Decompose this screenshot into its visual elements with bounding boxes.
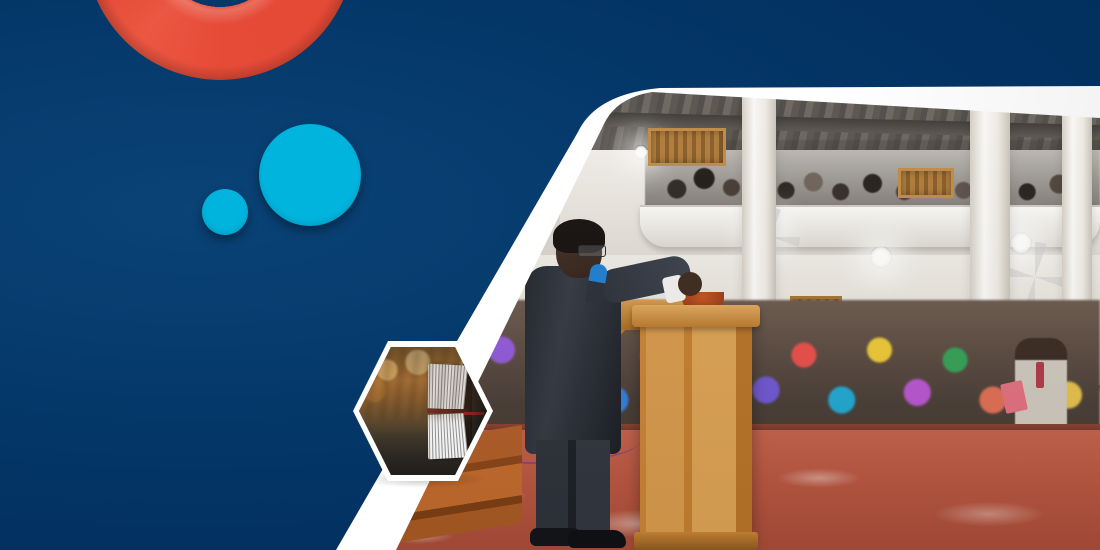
bible-spine bbox=[427, 409, 468, 413]
ceiling-lamp-icon bbox=[870, 246, 892, 268]
hexagon-image-clip bbox=[359, 347, 487, 475]
preacher-legs bbox=[536, 440, 610, 538]
louvred-window bbox=[648, 128, 726, 166]
wooden-pulpit bbox=[640, 318, 752, 550]
pulpit-top bbox=[632, 305, 760, 327]
preacher-hand bbox=[678, 272, 702, 296]
preacher-shoe bbox=[568, 530, 626, 548]
bible-left-page bbox=[428, 413, 469, 459]
pulpit-base bbox=[634, 532, 758, 550]
usher-tie bbox=[1036, 362, 1044, 388]
cyan-circle-large bbox=[259, 124, 361, 226]
bible-photo bbox=[359, 347, 487, 475]
open-bible bbox=[359, 347, 487, 475]
preacher-glasses bbox=[578, 245, 606, 257]
ceiling-lamp-icon bbox=[634, 145, 648, 159]
hero-banner bbox=[0, 0, 1100, 550]
bible-right-page bbox=[428, 364, 469, 410]
bible-ribbon bbox=[464, 412, 484, 415]
cyan-circle-small bbox=[202, 189, 248, 235]
louvred-window bbox=[898, 168, 954, 198]
